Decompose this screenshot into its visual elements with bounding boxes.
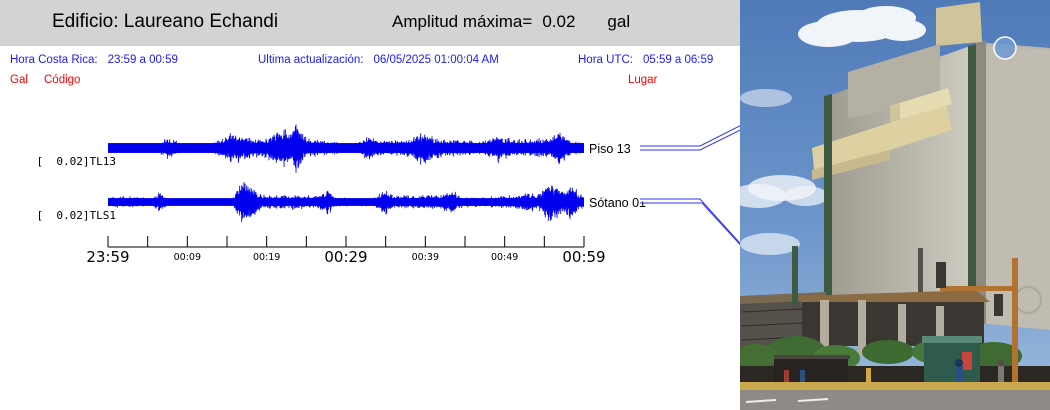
column-header-codigo: Código — [44, 74, 80, 86]
utc-time-value: 05:59 a 06:59 — [643, 54, 713, 66]
local-time-label: Hora Costa Rica: — [10, 54, 98, 66]
waveform-trace-sotano-01 — [108, 172, 584, 232]
last-update-label: Ultima actualización: — [258, 54, 363, 66]
channel-amplitude-1: [ 0.02] — [37, 155, 90, 168]
utc-time-row: Hora UTC:05:59 a 06:59 — [578, 54, 713, 66]
channel-label-1: [ 0.02]TL13 — [10, 142, 116, 181]
axis-tick-label: 00:09 — [174, 252, 201, 263]
last-update-value: 06/05/2025 01:00:04 AM — [373, 54, 498, 66]
max-amplitude-unit: gal — [607, 12, 630, 31]
page-title: Edificio: Laureano Echandi — [52, 11, 278, 33]
axis-tick-label: 23:59 — [86, 248, 129, 266]
column-header-lugar: Lugar — [628, 74, 657, 86]
axis-tick-label: 00:59 — [562, 248, 605, 266]
axis-tick-label: 00:29 — [324, 248, 367, 266]
building-photo-illustration — [740, 0, 1050, 410]
last-update-row: Ultima actualización:06/05/2025 01:00:04… — [258, 54, 499, 66]
seismic-monitor-page: Edificio: Laureano Echandi Amplitud máxi… — [0, 0, 1050, 410]
channel-label-2: [ 0.02]TLS1 — [10, 196, 116, 235]
place-label-sotano-01: Sótano 01 — [589, 196, 646, 210]
max-amplitude-readout: Amplitud máxima=0.02gal — [392, 12, 630, 32]
building-photo — [740, 0, 1050, 410]
max-amplitude-value: 0.02 — [542, 12, 575, 31]
waveform-trace-piso-13 — [108, 118, 584, 178]
channel-amplitude-2: [ 0.02] — [37, 209, 90, 222]
axis-tick-label: 00:49 — [491, 252, 518, 263]
local-time-value: 23:59 a 00:59 — [108, 54, 178, 66]
axis-tick-label: 00:19 — [253, 252, 280, 263]
max-amplitude-label: Amplitud máxima= — [392, 12, 532, 31]
place-label-piso-13: Piso 13 — [589, 142, 631, 156]
column-header-gal: Gal — [10, 74, 28, 86]
axis-tick-label: 00:39 — [412, 252, 439, 263]
utc-time-label: Hora UTC: — [578, 54, 633, 66]
local-time-row: Hora Costa Rica:23:59 a 00:59 — [10, 54, 178, 66]
